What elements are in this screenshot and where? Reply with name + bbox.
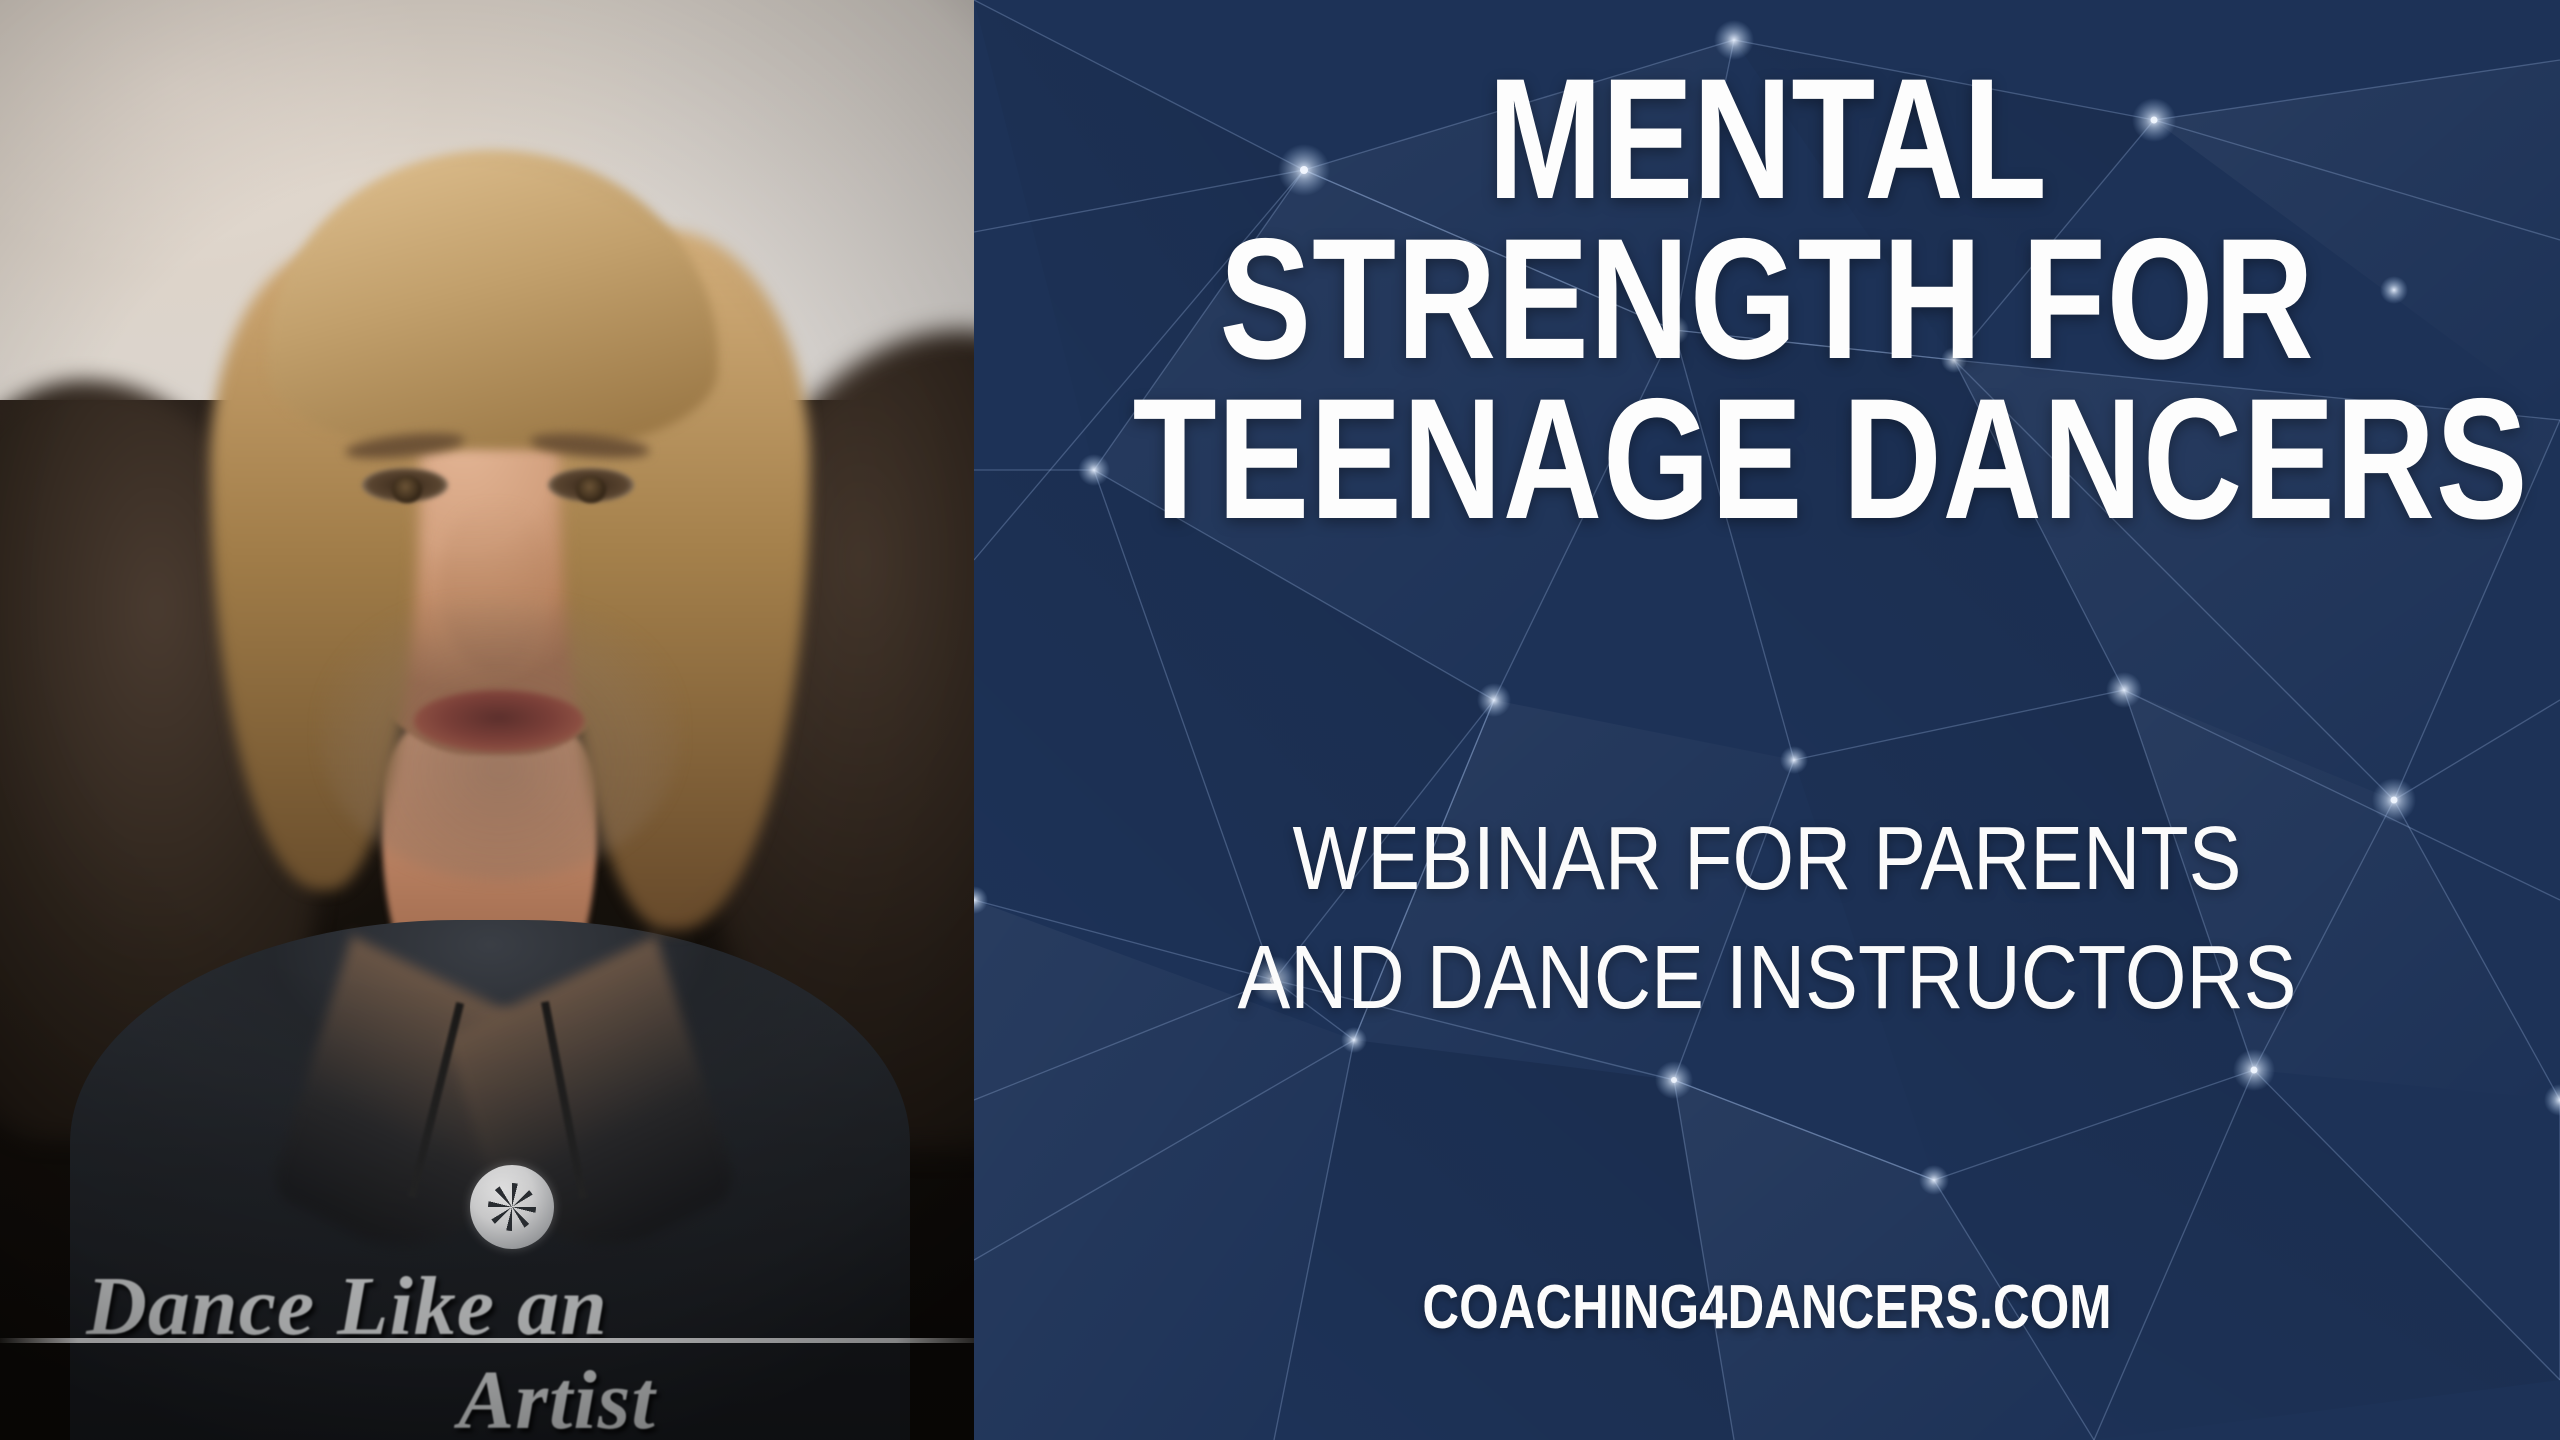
subtitle-line-2: AND DANCE INSTRUCTORS xyxy=(1069,919,2465,1038)
title-line-3: TEENAGE DANCERS xyxy=(1133,380,2402,540)
video-progress-line[interactable] xyxy=(0,1338,974,1343)
pupil-right xyxy=(576,476,606,503)
title-panel: MENTAL STRENGTH FOR TEENAGE DANCERS WEBI… xyxy=(974,0,2560,1440)
page-subtitle: WEBINAR FOR PARENTS AND DANCE INSTRUCTOR… xyxy=(1069,800,2465,1038)
subtitle-line-1: WEBINAR FOR PARENTS xyxy=(1069,800,2465,919)
page-title: MENTAL STRENGTH FOR TEENAGE DANCERS xyxy=(1133,60,2402,540)
speaker-video-panel[interactable]: Dance Like an Artist xyxy=(0,0,974,1440)
mouth xyxy=(414,690,584,752)
title-line-1: MENTAL xyxy=(1133,60,2402,220)
website-url[interactable]: COACHING4DANCERS.COM xyxy=(1117,1272,2418,1343)
slide-canvas: Dance Like an Artist xyxy=(0,0,2560,1440)
title-line-2: STRENGTH FOR xyxy=(1133,220,2402,380)
shirt-text-line-2: Artist xyxy=(70,1352,974,1440)
compass-rose-pendant-icon xyxy=(470,1165,554,1249)
pupil-left xyxy=(392,476,422,503)
